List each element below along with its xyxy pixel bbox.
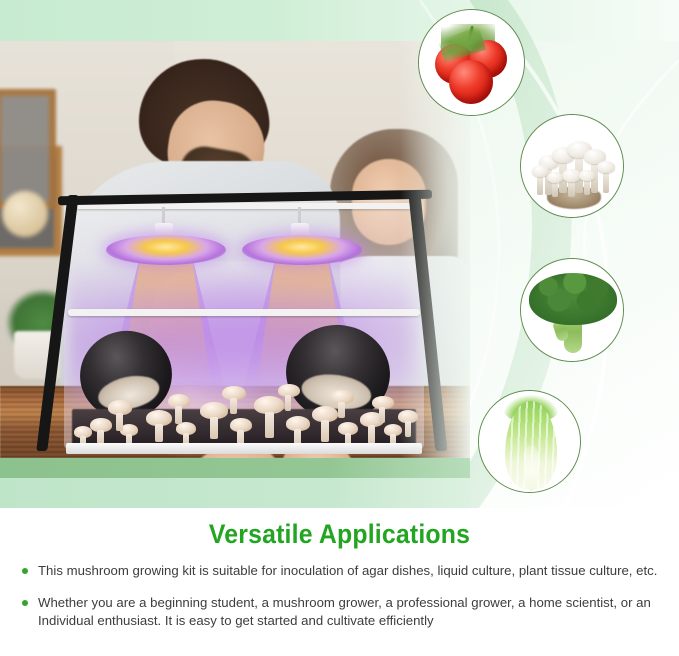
broccoli-icon xyxy=(521,259,623,361)
hero-section xyxy=(0,0,679,508)
text-section: Versatile Applications This mushroom gro… xyxy=(0,508,679,656)
bullet-list: This mushroom growing kit is suitable fo… xyxy=(16,562,668,644)
bubble-tomatoes[interactable] xyxy=(418,9,525,116)
bullet-dot-icon xyxy=(22,568,28,574)
grow-tray xyxy=(66,443,422,454)
lamp-disc-right xyxy=(242,235,362,265)
green-band-light xyxy=(0,478,470,508)
page-title: Versatile Applications xyxy=(27,519,652,550)
grow-light-right xyxy=(242,207,362,265)
bubble-broccoli[interactable] xyxy=(520,258,624,362)
mushroom-grow-tent-photo xyxy=(0,41,470,458)
list-item-text: This mushroom growing kit is suitable fo… xyxy=(38,563,657,578)
list-item: This mushroom growing kit is suitable fo… xyxy=(16,562,668,581)
bullet-dot-icon xyxy=(22,600,28,606)
mushroom-crop xyxy=(72,366,416,448)
list-item-text: Whether you are a beginning student, a m… xyxy=(38,595,651,629)
grow-light-left xyxy=(106,207,226,265)
tomato-icon xyxy=(419,10,524,115)
list-item: Whether you are a beginning student, a m… xyxy=(16,594,668,631)
green-band-medium xyxy=(0,458,470,478)
lamp-disc-left xyxy=(106,235,226,265)
bubble-mushrooms[interactable] xyxy=(520,114,624,218)
napa-cabbage-icon xyxy=(479,391,580,492)
shimeji-mushroom-icon xyxy=(521,115,623,217)
grow-tent xyxy=(24,181,444,456)
product-feature-card: Versatile Applications This mushroom gro… xyxy=(0,0,679,656)
tent-mid-rail xyxy=(68,309,420,316)
bubble-cabbage[interactable] xyxy=(478,390,581,493)
